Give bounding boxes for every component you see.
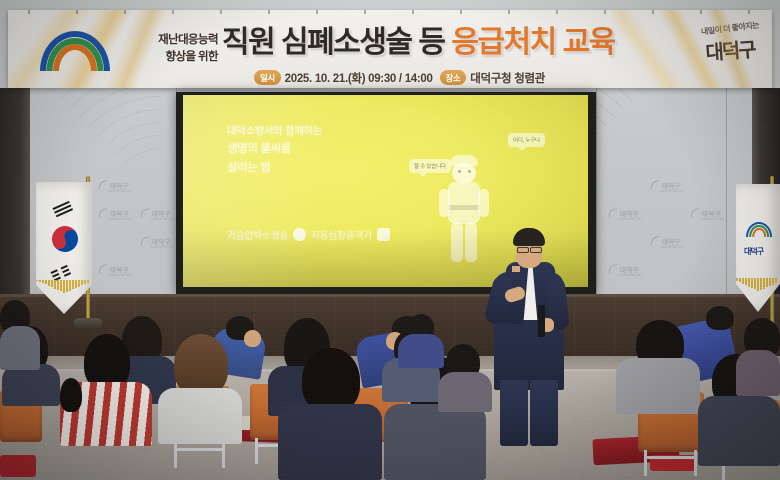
date-value: 2025. 10. 21.(화) 09:30 / 14:00 <box>285 73 433 85</box>
slide-footer-left: 가슴압박소생술 <box>227 231 288 242</box>
banner-title-accent: 응급처치 교육 <box>451 26 614 59</box>
banner-brand-mark: 내일이 더 좋아지는 대덕구 <box>696 24 764 82</box>
korean-national-flag <box>36 182 92 314</box>
photo-scene: 대덕구DAEDEOK-GU대덕구DAEDEOK-GU대덕구DAEDEOK-GU대… <box>0 0 780 480</box>
logo-arc <box>752 228 766 237</box>
place-value: 대덕구청 청렴관 <box>470 73 545 85</box>
flag-fringe-left <box>36 280 92 296</box>
presenter-glasses-left <box>517 247 529 253</box>
wall-watermark: 대덕구DAEDEOK-GU <box>608 264 642 277</box>
daedeok-gu-arc-logo <box>748 224 770 237</box>
banner-subtitle: 재난대응능력 향상을 위한 <box>118 32 218 65</box>
mascot-eye-right <box>468 170 471 173</box>
wall-watermark: 대덕구DAEDEOK-GU <box>98 264 132 277</box>
presenter-neck <box>512 266 520 272</box>
daedeok-gu-arc-logo <box>44 35 106 71</box>
mascot-eye-left <box>458 170 461 173</box>
banner-subtitle-line2: 향상을 위한 <box>118 49 218 66</box>
speech-bubble-left: 할 수 있습니다 <box>409 159 451 173</box>
mascot-leg-left <box>451 222 463 262</box>
instructor-face <box>244 330 261 347</box>
flag-fringe-right <box>736 278 780 294</box>
banner-hooks <box>8 10 772 14</box>
banner-meta: 일시2025. 10. 21.(화) 09:30 / 14:00 장소대덕구청 … <box>254 70 549 86</box>
mascot-arm-right <box>478 189 489 217</box>
slide-headline-line2: 생명의 불씨를 <box>227 140 322 159</box>
brand-name: 대덕구 <box>695 33 765 67</box>
mascot-leg-right <box>465 222 477 262</box>
mascot-belt <box>448 205 480 210</box>
presenter-hair <box>513 228 545 246</box>
wall-watermark: 대덕구DAEDEOK-GU <box>650 236 684 249</box>
wall-watermark: 대덕구DAEDEOK-GU <box>690 208 724 221</box>
wall-watermark: 대덕구DAEDEOK-GU <box>608 208 642 221</box>
mascot-helmet <box>450 155 478 166</box>
presenter-leg-left <box>500 380 528 446</box>
stage-wood-trim <box>0 294 780 297</box>
mascot-arm-left <box>439 189 450 217</box>
presenter-glasses-right <box>530 247 542 253</box>
cpr-hands-icon <box>293 228 306 241</box>
banner-subtitle-line1: 재난대응능력 <box>118 32 218 49</box>
wall-watermark: 대덕구DAEDEOK-GU <box>98 208 132 221</box>
slide-footer: 가슴압박소생술자동심장충격기 <box>227 227 395 242</box>
flag-base-left <box>74 318 102 328</box>
event-banner: 재난대응능력 향상을 위한 직원 심폐소생술 등 응급처치 교육 일시2025.… <box>8 10 772 88</box>
brand-slogan: 내일이 더 좋아지는 <box>696 20 765 37</box>
slide-headline-line3: 살리는 법 <box>227 159 322 178</box>
wall-watermark: 대덕구DAEDEOK-GU <box>140 208 174 221</box>
slide-headline: 대덕소방서와 함께하는 생명의 불씨를 살리는 법 <box>227 123 322 177</box>
speech-bubble-right: 어디, 누구나 <box>508 133 545 147</box>
slide-footer-right: 자동심장충격기 <box>311 231 372 242</box>
date-chip: 일시 <box>254 70 281 85</box>
firefighter-mascot <box>440 155 488 265</box>
place-chip: 장소 <box>440 70 467 85</box>
wall-watermark: 대덕구DAEDEOK-GU <box>98 180 132 193</box>
aed-device-icon <box>377 228 390 241</box>
banner-title-dark: 직원 심폐소생술 등 <box>222 26 444 59</box>
daedeok-gu-district-flag: 대덕구 <box>736 184 780 312</box>
handheld-microphone <box>538 305 545 337</box>
mascot-face <box>452 163 476 183</box>
slide-headline-line1: 대덕소방서와 함께하는 <box>227 123 322 140</box>
wall-watermark: 대덕구DAEDEOK-GU <box>140 236 174 249</box>
instructor-hair <box>706 306 734 330</box>
mascot-body <box>448 182 480 224</box>
wall-watermark: 대덕구DAEDEOK-GU <box>650 180 684 193</box>
cpr-bag-far-left <box>0 455 36 477</box>
banner-title: 직원 심폐소생술 등 응급처치 교육 <box>222 28 615 58</box>
district-flag-text: 대덕구 <box>744 246 763 257</box>
presenter-leg-right <box>530 380 558 446</box>
